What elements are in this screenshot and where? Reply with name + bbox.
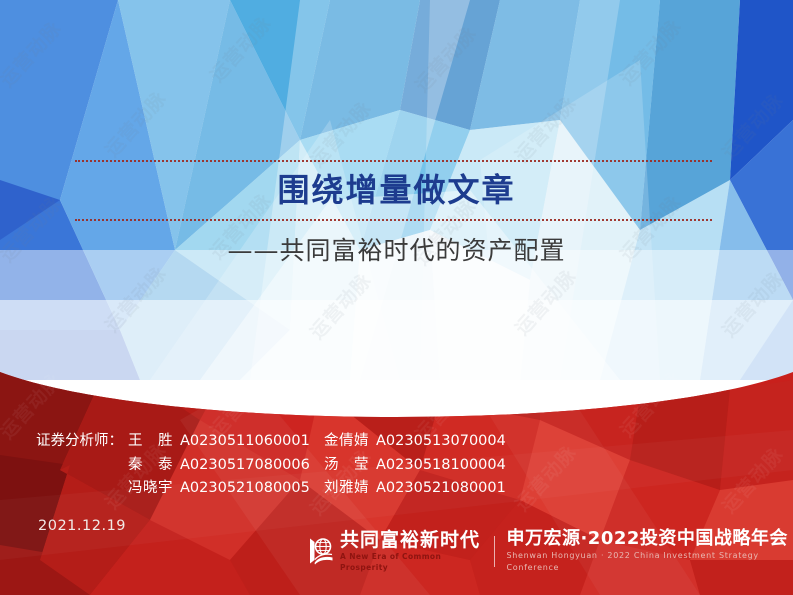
slide-background — [0, 0, 793, 595]
analyst-entry: 金倩婧 A0230513070004 — [324, 430, 506, 454]
analyst-name: 冯晓宇 — [128, 477, 180, 501]
conference-text-group: 申万宏源·2022投资中国战略年会 Shenwan Hongyuan · 202… — [506, 528, 793, 574]
analyst-name: 金倩婧 — [324, 430, 376, 454]
analyst-block: 证券分析师： 王 胜 A0230511060001 金倩婧 A023051307… — [36, 430, 506, 501]
title-divider-bottom — [75, 219, 712, 221]
analyst-entry: 刘雅婧 A0230521080001 — [324, 477, 506, 501]
analyst-license: A0230513070004 — [376, 430, 506, 454]
brand-text-group: 共同富裕新时代 A New Era of Common Prosperity — [340, 529, 481, 573]
brand-name-cn: 共同富裕新时代 — [340, 529, 481, 551]
brand-name-en: A New Era of Common Prosperity — [340, 551, 481, 573]
title-divider-top — [75, 160, 712, 162]
analyst-license: A0230517080006 — [180, 454, 310, 478]
analyst-row: 证券分析师： 王 胜 A0230511060001 金倩婧 A023051307… — [36, 430, 506, 454]
page-title: 围绕增量做文章 — [0, 168, 793, 212]
branding-bar: 共同富裕新时代 A New Era of Common Prosperity 申… — [308, 531, 793, 571]
analyst-entry: 汤 莹 A0230518100004 — [324, 454, 506, 478]
analyst-entry: 王 胜 A0230511060001 — [128, 430, 324, 454]
analyst-label: 证券分析师： — [36, 430, 128, 454]
conference-name-cn: 申万宏源·2022投资中国战略年会 — [506, 528, 793, 549]
analyst-license: A0230518100004 — [376, 454, 506, 478]
conference-name-en: Shenwan Hongyuan · 2022 China Investment… — [506, 550, 793, 574]
analyst-license: A0230511060001 — [180, 430, 310, 454]
analyst-row: 冯晓宇 A0230521080005 刘雅婧 A0230521080001 — [36, 477, 506, 501]
analyst-license: A0230521080005 — [180, 477, 310, 501]
globe-hand-logo-icon — [308, 537, 334, 565]
analyst-name: 王 胜 — [128, 430, 180, 454]
analyst-name: 秦 泰 — [128, 454, 180, 478]
slide-date: 2021.12.19 — [38, 518, 126, 534]
analyst-name: 汤 莹 — [324, 454, 376, 478]
presentation-slide: 运营动脉 运营动脉 运营动脉 运营动脉 运营动脉 运营动脉 运营动脉 运营动脉 … — [0, 0, 793, 595]
brand-divider — [494, 536, 495, 567]
analyst-entry: 秦 泰 A0230517080006 — [128, 454, 324, 478]
analyst-row: 秦 泰 A0230517080006 汤 莹 A0230518100004 — [36, 454, 506, 478]
analyst-entry: 冯晓宇 A0230521080005 — [128, 477, 324, 501]
analyst-license: A0230521080001 — [376, 477, 506, 501]
analyst-name: 刘雅婧 — [324, 477, 376, 501]
page-subtitle: ——共同富裕时代的资产配置 — [0, 233, 793, 269]
